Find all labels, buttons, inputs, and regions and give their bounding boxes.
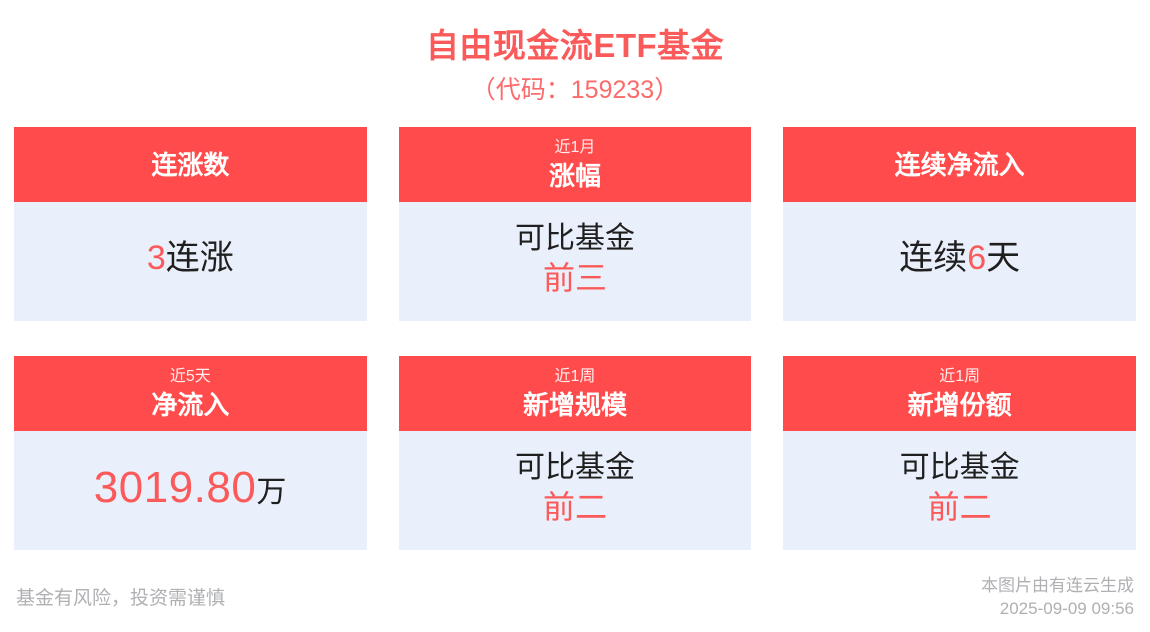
card-header: 近1月 涨幅 bbox=[399, 127, 752, 202]
card-header: 连涨数 bbox=[14, 127, 367, 202]
metric-card-grid: 连涨数 3连涨 近1月 涨幅 可比基金 前三 连续净流入 bbox=[14, 127, 1136, 550]
card-body: 可比基金 前二 bbox=[399, 431, 752, 550]
value-caption: 可比基金 bbox=[900, 449, 1020, 487]
value-number: 3 bbox=[147, 239, 166, 277]
metric-card-consecutive-gains: 连涨数 3连涨 bbox=[14, 127, 367, 321]
card-title: 连涨数 bbox=[151, 148, 229, 182]
metric-card-new-scale-1w: 近1周 新增规模 可比基金 前二 bbox=[399, 356, 752, 550]
credit-timestamp: 2025-09-09 09:56 bbox=[981, 597, 1134, 620]
card-value: 3019.80万 bbox=[94, 462, 287, 514]
card-period-label: 近5天 bbox=[170, 366, 211, 388]
card-period-label: 近1月 bbox=[555, 137, 596, 159]
card-title: 净流入 bbox=[151, 388, 229, 422]
card-period-label: 近1周 bbox=[939, 366, 980, 388]
card-body: 3连涨 bbox=[14, 202, 367, 321]
risk-disclaimer: 基金有风险，投资需谨慎 bbox=[16, 586, 225, 620]
card-header: 近1周 新增规模 bbox=[399, 356, 752, 431]
metric-card-net-inflow-5d: 近5天 净流入 3019.80万 bbox=[14, 356, 367, 550]
value-number: 3019.80 bbox=[94, 463, 257, 512]
credit-source: 本图片由有连云生成 bbox=[981, 574, 1134, 597]
metric-card-monthly-return: 近1月 涨幅 可比基金 前三 bbox=[399, 127, 752, 321]
card-header: 近1周 新增份额 bbox=[783, 356, 1136, 431]
infographic-page: 自由现金流ETF基金 （代码：159233） 连涨数 3连涨 近1月 涨幅 可比… bbox=[0, 0, 1150, 632]
card-value: 连续6天 bbox=[899, 238, 1020, 278]
value-number: 6 bbox=[967, 239, 986, 277]
page-title: 自由现金流ETF基金 bbox=[0, 24, 1150, 68]
card-title: 连续净流入 bbox=[895, 148, 1025, 182]
metric-card-new-shares-1w: 近1周 新增份额 可比基金 前二 bbox=[783, 356, 1136, 550]
value-suffix: 连涨 bbox=[166, 239, 234, 277]
metric-card-consecutive-inflow: 连续净流入 连续6天 bbox=[783, 127, 1136, 321]
page-footer: 基金有风险，投资需谨慎 本图片由有连云生成 2025-09-09 09:56 bbox=[0, 572, 1150, 620]
value-caption: 可比基金 bbox=[515, 220, 635, 258]
page-header: 自由现金流ETF基金 （代码：159233） bbox=[0, 0, 1150, 108]
value-rank: 前三 bbox=[543, 258, 607, 298]
generation-credit: 本图片由有连云生成 2025-09-09 09:56 bbox=[981, 574, 1134, 620]
card-title: 涨幅 bbox=[549, 159, 601, 193]
card-header: 连续净流入 bbox=[783, 127, 1136, 202]
card-body: 可比基金 前二 bbox=[783, 431, 1136, 550]
value-rank: 前二 bbox=[928, 487, 992, 527]
value-caption: 可比基金 bbox=[515, 449, 635, 487]
value-unit: 万 bbox=[256, 476, 287, 509]
fund-code: （代码：159233） bbox=[0, 72, 1150, 108]
value-rank: 前二 bbox=[543, 487, 607, 527]
card-header: 近5天 净流入 bbox=[14, 356, 367, 431]
card-title: 新增规模 bbox=[523, 388, 627, 422]
card-body: 连续6天 bbox=[783, 202, 1136, 321]
value-prefix: 连续 bbox=[899, 239, 967, 277]
card-period-label: 近1周 bbox=[555, 366, 596, 388]
value-suffix: 天 bbox=[986, 239, 1020, 277]
card-title: 新增份额 bbox=[908, 388, 1012, 422]
card-value: 3连涨 bbox=[147, 238, 234, 278]
card-body: 3019.80万 bbox=[14, 431, 367, 550]
card-body: 可比基金 前三 bbox=[399, 202, 752, 321]
